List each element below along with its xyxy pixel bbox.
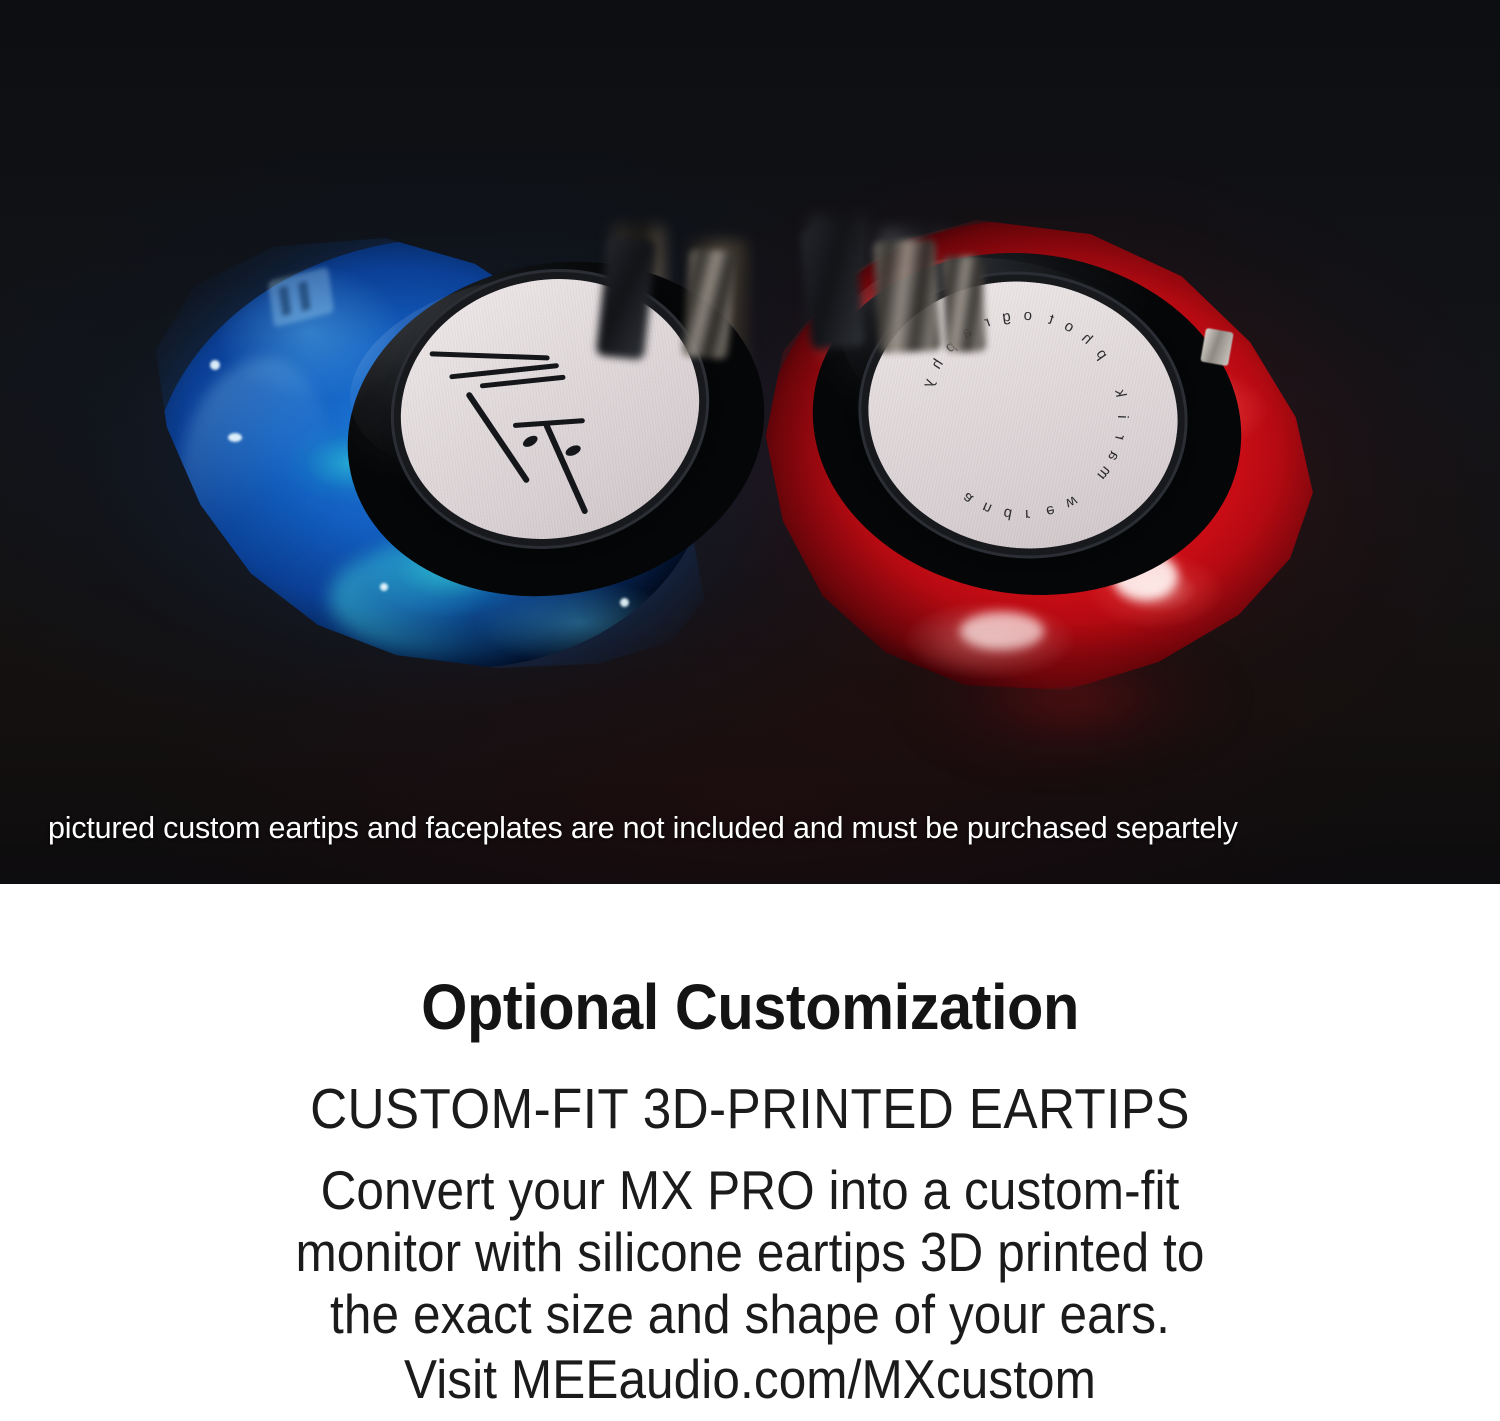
signature-stroke (465, 391, 530, 484)
signature-stroke (480, 375, 566, 389)
blue-specular-dot (228, 433, 242, 442)
section-subheadline: CUSTOM-FIT 3D-PRINTED EARTIPS (75, 1076, 1425, 1142)
blue-highlight (180, 358, 330, 588)
faceplate-ring-char: m (1094, 463, 1115, 483)
mmcx-connector (873, 238, 941, 353)
faceplate-ring-char: a (960, 489, 977, 508)
faceplate-ring-char: o (1023, 307, 1033, 325)
faceplate-metal-clip (1200, 328, 1233, 366)
faceplate-ring-char: w (1063, 492, 1080, 512)
product-photo-panel: andrewmarikphotography pictured custom e… (0, 0, 1500, 884)
faceplate-ring-char: p (1093, 346, 1112, 363)
cable-stub (801, 226, 865, 350)
faceplate-ring-char: r (1025, 506, 1030, 523)
faceplate-ring-char: y (919, 377, 938, 390)
blue-specular-dot (620, 598, 629, 607)
faceplate-ring-char: h (928, 356, 947, 372)
signature-stroke (521, 433, 539, 449)
signature-stroke (564, 443, 582, 458)
faceplate-ring-char: d (1002, 504, 1013, 522)
me-brand-mark (268, 267, 335, 328)
mmcx-connector (682, 249, 735, 360)
marketing-text-panel: Optional Customization CUSTOM-FIT 3D-PRI… (0, 884, 1500, 1421)
signature-stroke (430, 351, 550, 360)
faceplate-ring-char: r (1111, 433, 1129, 442)
photo-disclaimer-text: pictured custom eartips and faceplates a… (48, 811, 1460, 846)
visit-url-line: Visit MEEaudio.com/MXcustom (75, 1347, 1425, 1411)
faceplate-ring-char: h (1078, 330, 1096, 348)
blue-specular-dot (210, 360, 220, 370)
faceplate-ring-char: a (1104, 449, 1123, 464)
section-headline: Optional Customization (53, 970, 1448, 1044)
mmcx-connector (942, 255, 985, 352)
faceplate-ring-char: o (1061, 317, 1077, 336)
body-line: the exact size and shape of your ears. (75, 1283, 1425, 1345)
faceplate-ring-char: g (1001, 308, 1011, 326)
red-specular-highlight (960, 612, 1044, 650)
signature-stroke (543, 421, 589, 515)
faceplate-ring-char: e (1044, 501, 1056, 519)
faceplate-ring-char: n (980, 498, 994, 517)
body-line: monitor with silicone eartips 3D printed… (75, 1221, 1425, 1283)
blue-specular-dot (380, 583, 388, 591)
faceplate-ring-char: i (1114, 415, 1131, 419)
blue-earpiece (150, 218, 770, 688)
section-body-copy: Convert your MX PRO into a custom-fit mo… (75, 1159, 1425, 1345)
body-line: Convert your MX PRO into a custom-fit (75, 1159, 1425, 1221)
faceplate-ring-char: t (1047, 311, 1056, 328)
faceplate-ring-char: k (1111, 388, 1129, 398)
